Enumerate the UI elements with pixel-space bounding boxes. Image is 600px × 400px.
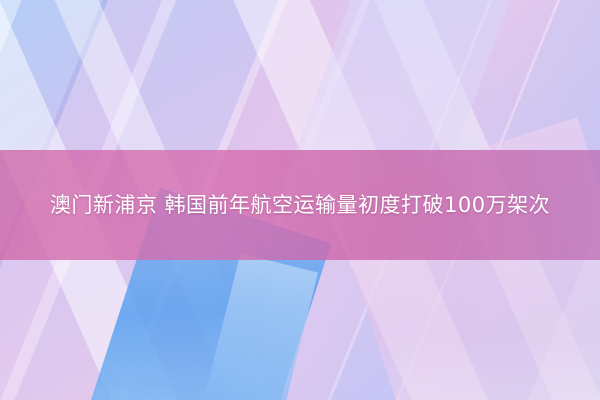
page-title: 澳门新浦京 韩国前年航空运输量初度打破100万架次 — [20, 186, 580, 224]
title-band: 澳门新浦京 韩国前年航空运输量初度打破100万架次 — [0, 150, 600, 260]
decorative-banner: 澳门新浦京 韩国前年航空运输量初度打破100万架次 — [0, 0, 600, 400]
